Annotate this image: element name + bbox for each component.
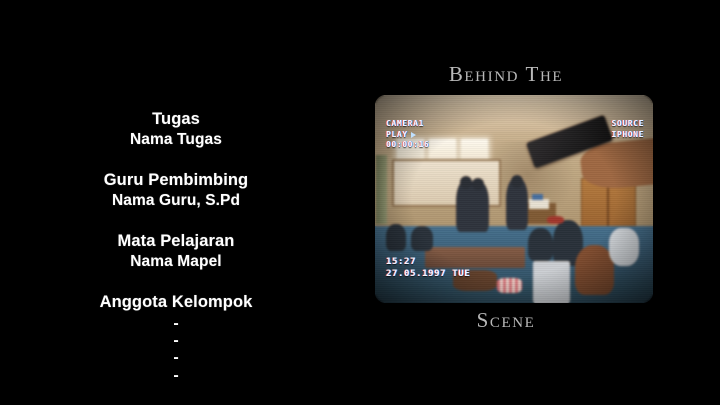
play-triangle-icon [411,132,416,138]
scene-foreground-bag [533,261,569,303]
title-behind-the: Behind The [356,62,656,87]
video-player-frame[interactable]: CAMERA1 PLAY 00:00:16 SOURCE IPHONE 15:2… [375,95,653,303]
scene-person-head [472,178,484,189]
list-item: - [36,315,316,332]
scene-seated-person [411,226,433,251]
credit-value-guru: Nama Guru, S.Pd [36,191,316,212]
scene-person-head [511,175,523,187]
credit-block-guru: Guru Pembimbing Nama Guru, S.Pd [36,169,316,212]
list-item: - [36,367,316,384]
scene-table-box [532,194,543,200]
credit-heading-mapel: Mata Pelajaran [36,230,316,252]
osd-date: 27.05.1997 TUE [386,269,470,281]
title-scene: Scene [356,308,656,333]
credit-value-tugas: Nama Tugas [36,130,316,151]
credit-value-mapel: Nama Mapel [36,252,316,273]
scene-striped-object [497,278,522,293]
credit-heading-anggota: Anggota Kelompok [36,291,316,313]
osd-camera-status: CAMERA1 PLAY 00:00:16 [386,119,429,151]
member-list: - - - - [36,315,316,384]
credit-block-mapel: Mata Pelajaran Nama Mapel [36,230,316,273]
osd-camera-label: CAMERA1 [386,119,429,130]
osd-source-label: SOURCE [612,119,645,130]
credits-column: Tugas Nama Tugas Guru Pembimbing Nama Gu… [36,108,316,384]
scene-foreground-object [609,228,640,265]
osd-timecode: 00:00:16 [386,140,429,151]
osd-clock: 15:27 [386,257,470,269]
list-item: - [36,332,316,349]
credit-heading-guru: Guru Pembimbing [36,169,316,191]
osd-source-value: IPHONE [612,130,645,141]
scene-seated-person [386,224,405,251]
credit-block-anggota: Anggota Kelompok - - - - [36,291,316,384]
scene-standing-person [468,182,489,232]
scene-door-frame [376,155,387,224]
scene-seated-person [528,228,553,261]
osd-transport-mode: PLAY [386,130,408,141]
scene-red-cap [547,216,564,224]
list-item: - [36,349,316,366]
osd-datetime-stamp: 15:27 27.05.1997 TUE [386,257,470,281]
osd-source-status: SOURCE IPHONE [612,119,645,140]
scene-table-paper [529,199,548,209]
osd-transport-row: PLAY [386,130,429,141]
credit-heading-tugas: Tugas [36,108,316,130]
video-credits-screen: Tugas Nama Tugas Guru Pembimbing Nama Gu… [0,0,720,405]
credit-block-tugas: Tugas Nama Tugas [36,108,316,151]
